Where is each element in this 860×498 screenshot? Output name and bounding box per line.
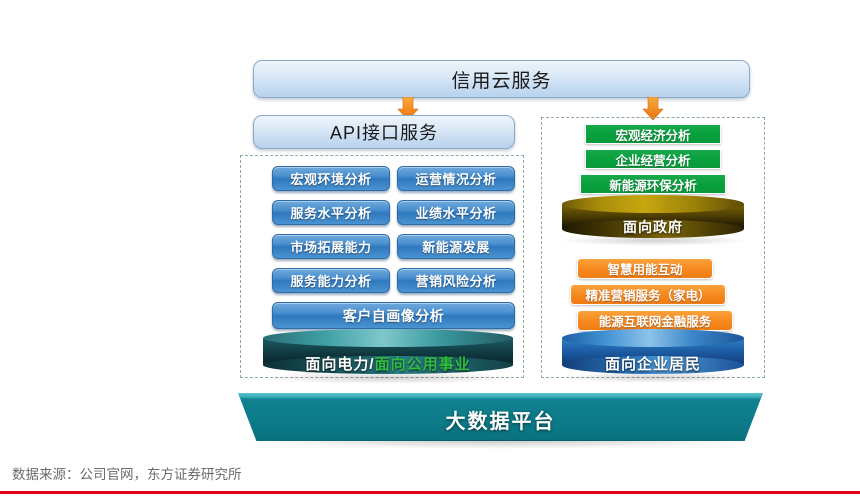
source-note: 数据来源：公司官网，东方证券研究所 xyxy=(12,463,512,483)
power-label-part: 面向电力/ xyxy=(305,356,374,373)
power-utility-base[interactable]: 面向电力/面向公用事业 xyxy=(263,329,513,377)
power-utility-label: 面向电力/面向公用事业 xyxy=(263,353,513,374)
cylinder-top xyxy=(562,195,744,213)
button-label: 市场拓展能力 xyxy=(290,237,371,256)
cylinder-top xyxy=(562,329,744,347)
button-new-energy-development[interactable]: 新能源发展 xyxy=(397,234,515,259)
bigdata-platform[interactable]: 大数据平台 xyxy=(238,393,763,441)
cylinder-top xyxy=(263,329,513,347)
government-label: 面向政府 xyxy=(562,217,744,237)
platform-cap xyxy=(238,393,763,398)
enterprise-resident-base[interactable]: 面向企业居民 xyxy=(562,329,744,377)
button-label: 营销风险分析 xyxy=(415,271,496,290)
cloud-service-label: 信用云服务 xyxy=(451,66,551,93)
button-label: 运营情况分析 xyxy=(415,169,496,188)
button-energy-internet-finance[interactable]: 能源互联网金融服务 xyxy=(577,310,733,331)
button-service-capability[interactable]: 服务能力分析 xyxy=(272,268,390,293)
button-label: 企业经营分析 xyxy=(615,150,690,169)
button-label: 精准营销服务（家电） xyxy=(585,285,710,304)
button-customer-self-portrait[interactable]: 客户自画像分析 xyxy=(272,302,515,329)
button-label: 智慧用能互动 xyxy=(607,259,682,278)
button-label: 宏观经济分析 xyxy=(615,125,690,144)
button-performance-level[interactable]: 业绩水平分析 xyxy=(397,200,515,225)
button-label: 能源互联网金融服务 xyxy=(599,311,712,330)
button-label: 服务水平分析 xyxy=(290,203,371,222)
button-precision-marketing[interactable]: 精准营销服务（家电） xyxy=(570,284,726,305)
source-prefix: 数据来源： xyxy=(12,463,80,483)
api-service-label: API接口服务 xyxy=(330,119,438,145)
button-operation-status[interactable]: 运营情况分析 xyxy=(397,166,515,191)
button-label: 新能源环保分析 xyxy=(609,175,697,194)
button-new-energy-environment[interactable]: 新能源环保分析 xyxy=(580,174,726,194)
button-marketing-risk[interactable]: 营销风险分析 xyxy=(397,268,515,293)
button-label: 服务能力分析 xyxy=(290,271,371,290)
button-macro-economy[interactable]: 宏观经济分析 xyxy=(585,124,721,144)
bigdata-platform-label: 大数据平台 xyxy=(238,405,763,434)
button-macro-environment[interactable]: 宏观环境分析 xyxy=(272,166,390,191)
cloud-service-box[interactable]: 信用云服务 xyxy=(253,60,750,98)
button-market-expansion[interactable]: 市场拓展能力 xyxy=(272,234,390,259)
government-base[interactable]: 面向政府 xyxy=(562,195,744,240)
button-label: 业绩水平分析 xyxy=(415,203,496,222)
enterprise-resident-label: 面向企业居民 xyxy=(562,353,744,374)
source-value: 公司官网，东方证券研究所 xyxy=(80,463,242,483)
button-service-level[interactable]: 服务水平分析 xyxy=(272,200,390,225)
button-smart-energy-interaction[interactable]: 智慧用能互动 xyxy=(577,258,713,279)
button-label: 宏观环境分析 xyxy=(290,169,371,188)
button-label: 客户自画像分析 xyxy=(343,306,445,326)
api-service-box[interactable]: API接口服务 xyxy=(253,115,515,149)
platform-shadow xyxy=(245,440,755,449)
diagram-canvas: 信用云服务 API接口服务 xyxy=(0,0,860,498)
footer-rule xyxy=(0,491,860,494)
button-label: 新能源发展 xyxy=(422,237,490,256)
utility-label-part: 面向公用事业 xyxy=(375,356,471,373)
button-enterprise-operation[interactable]: 企业经营分析 xyxy=(585,149,721,169)
